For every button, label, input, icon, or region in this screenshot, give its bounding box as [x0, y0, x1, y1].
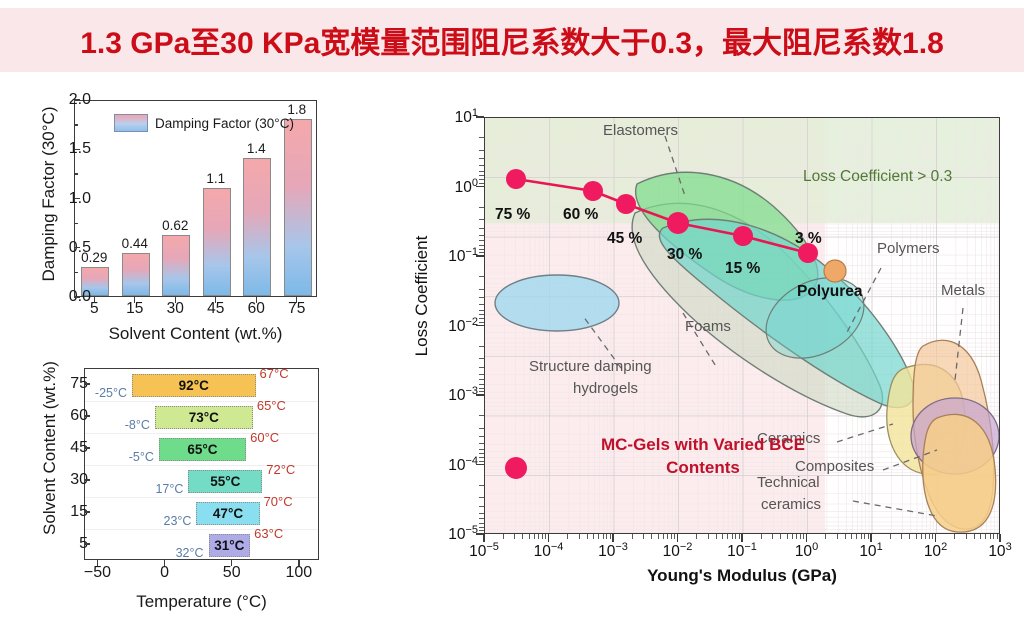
bar-y-tick-minor	[74, 173, 78, 174]
temperature-range-bar-chart: Solvent Content (wt.%) 92°C-25°C67°C73°C…	[12, 360, 342, 622]
bar-y-tick-mark	[74, 296, 80, 297]
ashby-x-tick-minor	[909, 534, 910, 539]
bar-x-tick-mark	[134, 297, 135, 303]
ashby-x-tick-minor	[974, 534, 975, 539]
legend-label: Damping Factor (30°C)	[155, 116, 294, 131]
range-high-label-60: 65°C	[257, 398, 286, 413]
range-bar-75: 92°C	[132, 374, 256, 397]
ashby-x-tick-minor	[800, 534, 801, 539]
range-bar-width-label-45: 65°C	[187, 442, 217, 457]
ashby-x-tick-minor	[780, 534, 781, 539]
ashby-y-tick-minor	[479, 457, 484, 458]
range-low-label-60: -8°C	[125, 418, 150, 432]
polyurea-label: Polyurea	[797, 283, 862, 301]
ashby-x-tick-minor	[534, 534, 535, 539]
ashby-y-tick-minor	[479, 310, 484, 311]
bar-value-label-15: 0.44	[112, 236, 158, 251]
ashby-y-tick-minor	[479, 428, 484, 429]
ashby-loss-coefficient-chart: Loss Coefficient	[380, 86, 1024, 631]
range-y-tick-mark	[84, 383, 90, 384]
ashby-y-tick-minor	[479, 207, 484, 208]
region-structure-damping-hydrogels	[495, 275, 619, 331]
ashby-x-tick-minor	[632, 534, 633, 539]
ashby-y-tick-minor	[479, 513, 484, 514]
ashby-y-tick-minor	[479, 240, 484, 241]
ashby-x-tick-mark	[548, 534, 550, 542]
range-x-tick-mark	[298, 560, 299, 566]
range-bar-30: 55°C	[188, 470, 262, 493]
bar-45	[203, 188, 231, 296]
ashby-y-tick-minor	[479, 367, 484, 368]
ashby-y-tick-minor	[479, 179, 484, 180]
ashby-y-tick-minor	[479, 322, 484, 323]
bar-x-tick-mark	[256, 297, 257, 303]
ashby-x-tick-minor	[966, 534, 967, 539]
ashby-y-tick-minor	[479, 228, 484, 229]
ashby-y-tick-minor	[479, 358, 484, 359]
ashby-x-tick-minor	[529, 534, 530, 539]
ashby-y-tick-minor	[479, 235, 484, 236]
ashby-y-tick-mark	[476, 464, 484, 466]
ashby-x-tick-0: 10−5	[449, 541, 519, 561]
ashby-x-tick-minor	[658, 534, 659, 539]
bar-y-tick-minor	[74, 124, 78, 125]
ashby-x-tick-7: 102	[901, 541, 971, 561]
range-y-tick-60: 60	[38, 407, 88, 425]
ashby-y-tick-4: 10−3	[408, 385, 478, 405]
ashby-y-tick-5: 10−4	[408, 455, 478, 475]
ashby-x-tick-mark	[870, 534, 872, 542]
ashby-x-tick-minor	[671, 534, 672, 539]
ashby-x-tick-minor	[985, 534, 986, 539]
note-metals: Metals	[941, 282, 985, 299]
ashby-x-tick-minor	[674, 534, 675, 539]
ashby-y-tick-minor	[479, 453, 484, 454]
range-high-label-15: 70°C	[264, 494, 293, 509]
ashby-y-tick-minor	[479, 523, 484, 524]
ashby-x-tick-minor	[579, 534, 580, 539]
ashby-x-tick-3: 10−2	[643, 541, 713, 561]
range-low-label-75: -25°C	[95, 386, 127, 400]
ashby-x-tick-minor	[929, 534, 930, 539]
ashby-x-tick-minor	[868, 534, 869, 539]
ashby-x-tick-mark	[806, 534, 808, 542]
title-banner: 1.3 GPa至30 KPa宽模量范围阻尼系数大于0.3，最大阻尼系数1.8	[0, 8, 1024, 72]
ashby-x-tick-minor	[708, 534, 709, 539]
ashby-x-tick-minor	[916, 534, 917, 539]
bar-x-tick-mark	[296, 297, 297, 303]
ashby-x-tick-minor	[845, 534, 846, 539]
ashby-y-tick-minor	[479, 252, 484, 253]
loss-coefficient-band-label: Loss Coefficient > 0.3	[803, 168, 952, 186]
ashby-x-tick-minor	[610, 534, 611, 539]
ashby-y-tick-minor	[479, 158, 484, 159]
range-y-tick-mark	[84, 511, 90, 512]
ashby-x-axis-label: Young's Modulus (GPa)	[484, 566, 1000, 586]
range-x-tick-mark	[231, 560, 232, 566]
ashby-x-tick-6: 101	[836, 541, 906, 561]
page-title: 1.3 GPa至30 KPa宽模量范围阻尼系数大于0.3，最大阻尼系数1.8	[80, 18, 944, 62]
ashby-y-tick-minor	[479, 165, 484, 166]
pct-label-60: 60 %	[563, 206, 598, 224]
bar-chart-x-axis-label: Solvent Content (wt.%)	[74, 324, 317, 344]
range-low-label-15: 23°C	[164, 514, 192, 528]
bar-value-label-45: 1.1	[193, 171, 239, 186]
ashby-y-tick-minor	[479, 314, 484, 315]
ashby-x-tick-minor	[890, 534, 891, 539]
range-x-tick-mark	[97, 560, 98, 566]
ashby-y-tick-minor	[479, 379, 484, 380]
note-polymers: Polymers	[877, 240, 940, 257]
range-bar-15: 47°C	[196, 502, 259, 525]
ashby-y-tick-minor	[479, 506, 484, 507]
range-x-tick--50: −50	[72, 564, 122, 582]
ashby-y-tick-minor	[479, 304, 484, 305]
ashby-x-tick-minor	[667, 534, 668, 539]
ashby-x-tick-minor	[643, 534, 644, 539]
ashby-x-tick-minor	[739, 534, 740, 539]
ashby-y-tick-minor	[479, 171, 484, 172]
range-high-label-5: 63°C	[254, 526, 283, 541]
ashby-y-tick-2: 10−1	[408, 246, 478, 266]
damping-factor-bar-chart: Damping Factor (30°C) 2.01.51.00.50.00.2…	[12, 88, 342, 356]
range-high-label-75: 67°C	[260, 366, 289, 381]
ashby-y-tick-minor	[479, 276, 484, 277]
ashby-x-tick-5: 100	[772, 541, 842, 561]
ashby-x-tick-minor	[932, 534, 933, 539]
ashby-y-tick-minor	[479, 318, 484, 319]
pct-label-3: 3 %	[795, 230, 822, 248]
range-bar-width-label-75: 92°C	[179, 378, 209, 393]
ashby-y-tick-minor	[479, 150, 484, 151]
ashby-y-tick-minor	[479, 530, 484, 531]
range-bar-width-label-60: 73°C	[189, 410, 219, 425]
ashby-y-tick-1: 100	[408, 177, 478, 197]
range-bar-5: 31°C	[209, 534, 251, 557]
ashby-x-tick-minor	[925, 534, 926, 539]
ashby-x-tick-minor	[837, 534, 838, 539]
ashby-x-tick-minor	[732, 534, 733, 539]
pct-label-15: 15 %	[725, 260, 760, 278]
range-y-tick-mark	[84, 447, 90, 448]
ashby-x-tick-1: 10−4	[514, 541, 584, 561]
ashby-y-axis-label: Loss Coefficient	[412, 196, 432, 396]
ashby-x-tick-minor	[696, 534, 697, 539]
ashby-x-tick-minor	[761, 534, 762, 539]
ashby-y-tick-minor	[479, 518, 484, 519]
ashby-x-tick-minor	[514, 534, 515, 539]
ashby-x-tick-minor	[787, 534, 788, 539]
mcgel-lone-point	[505, 457, 527, 479]
mcgel-point-45	[616, 194, 636, 214]
ashby-y-tick-minor	[479, 527, 484, 528]
bar-y-tick-mark	[74, 247, 80, 248]
range-y-tick-45: 45	[38, 439, 88, 457]
ashby-x-tick-8: 103	[965, 541, 1024, 561]
mcgels-series-label: MC-Gels with Varied BCE Contents	[553, 434, 853, 480]
ashby-x-tick-minor	[856, 534, 857, 539]
ashby-y-tick-minor	[479, 436, 484, 437]
mcgel-point-75	[506, 169, 526, 189]
ashby-x-tick-minor	[954, 534, 955, 539]
range-high-label-45: 60°C	[250, 430, 279, 445]
ashby-y-tick-minor	[479, 449, 484, 450]
bar-x-tick-mark	[175, 297, 176, 303]
range-bar-width-label-5: 31°C	[214, 538, 244, 553]
ashby-x-tick-minor	[603, 534, 604, 539]
bar-15	[122, 253, 150, 296]
note-foams: Foams	[685, 318, 731, 335]
ashby-y-tick-minor	[479, 461, 484, 462]
ashby-x-tick-minor	[851, 534, 852, 539]
ashby-x-tick-minor	[997, 534, 998, 539]
note-technical-ceramics-line2: ceramics	[761, 496, 821, 513]
ashby-y-tick-minor	[479, 443, 484, 444]
range-y-tick-mark	[84, 415, 90, 416]
ashby-y-tick-minor	[479, 384, 484, 385]
range-low-label-30: 17°C	[155, 482, 183, 496]
bar-75	[284, 119, 312, 296]
ashby-x-tick-mark	[612, 534, 614, 542]
range-gridline	[85, 433, 318, 434]
bar-chart-legend: Damping Factor (30°C)	[114, 114, 294, 132]
ashby-x-tick-mark	[741, 534, 743, 542]
ashby-y-tick-minor	[479, 485, 484, 486]
range-y-tick-mark	[84, 543, 90, 544]
ashby-x-tick-minor	[993, 534, 994, 539]
pct-label-75: 75 %	[495, 206, 530, 224]
bar-y-tick-minor	[74, 272, 78, 273]
bar-y-tick-label: 1.5	[41, 140, 91, 158]
ashby-y-tick-minor	[479, 391, 484, 392]
note-hydrogels-line1: Structure damping	[529, 358, 652, 375]
legend-swatch-icon	[114, 114, 148, 132]
ashby-x-tick-2: 10−3	[578, 541, 648, 561]
ashby-y-tick-minor	[479, 415, 484, 416]
ashby-y-tick-mark	[476, 186, 484, 188]
ashby-y-tick-3: 10−2	[408, 316, 478, 336]
ashby-y-tick-0: 101	[408, 107, 478, 127]
ashby-y-tick-minor	[479, 175, 484, 176]
range-x-tick-100: 100	[274, 564, 324, 582]
ashby-y-tick-minor	[479, 346, 484, 347]
pct-label-30: 30 %	[667, 246, 702, 264]
bar-x-tick-mark	[215, 297, 216, 303]
note-hydrogels-line2: hydrogels	[573, 380, 638, 397]
ashby-x-tick-minor	[538, 534, 539, 539]
ashby-y-tick-minor	[479, 183, 484, 184]
ashby-x-tick-minor	[792, 534, 793, 539]
range-high-label-30: 72°C	[266, 462, 295, 477]
bar-y-tick-label: 2.0	[41, 91, 91, 109]
mcgel-point-30	[667, 212, 689, 234]
note-elastomers: Elastomers	[603, 122, 678, 139]
ashby-y-tick-minor	[479, 289, 484, 290]
ashby-x-tick-minor	[796, 534, 797, 539]
ashby-x-tick-minor	[542, 534, 543, 539]
bar-60	[243, 158, 271, 296]
ashby-y-tick-minor	[479, 219, 484, 220]
ashby-x-tick-minor	[503, 534, 504, 539]
range-x-tick-0: 0	[140, 564, 190, 582]
ashby-x-tick-minor	[901, 534, 902, 539]
bar-y-tick-mark	[74, 99, 80, 100]
ashby-x-tick-mark	[677, 534, 679, 542]
bar-value-label-60: 1.4	[233, 141, 279, 156]
mcgel-point-60	[583, 181, 603, 201]
ashby-x-tick-mark	[935, 534, 937, 542]
ashby-x-tick-minor	[803, 534, 804, 539]
ashby-x-tick-mark	[999, 534, 1001, 542]
ashby-y-tick-minor	[479, 245, 484, 246]
ashby-x-tick-mark	[483, 534, 485, 542]
ashby-x-tick-minor	[727, 534, 728, 539]
ashby-plot-area: Elastomers Foams Polymers Ceramics Compo…	[484, 117, 1000, 534]
ashby-x-tick-minor	[598, 534, 599, 539]
ashby-x-tick-4: 10−1	[707, 541, 777, 561]
ashby-y-tick-mark	[476, 116, 484, 118]
ashby-y-tick-minor	[479, 249, 484, 250]
region-technical-ceramics	[923, 414, 996, 532]
ashby-x-tick-minor	[864, 534, 865, 539]
ashby-x-tick-minor	[772, 534, 773, 539]
bar-value-label-5: 0.29	[71, 250, 117, 265]
ashby-y-tick-minor	[479, 297, 484, 298]
mcgel-point-15	[733, 226, 753, 246]
ashby-y-tick-mark	[476, 255, 484, 257]
range-low-label-5: 32°C	[176, 546, 204, 560]
ashby-x-tick-minor	[980, 534, 981, 539]
range-x-tick-mark	[164, 560, 165, 566]
ashby-x-tick-minor	[663, 534, 664, 539]
range-bar-width-label-30: 55°C	[210, 474, 240, 489]
bar-value-label-30: 0.62	[152, 218, 198, 233]
ashby-y-tick-minor	[479, 388, 484, 389]
ashby-y-tick-minor	[479, 497, 484, 498]
ashby-x-tick-minor	[587, 534, 588, 539]
ashby-x-tick-minor	[593, 534, 594, 539]
range-y-tick-75: 75	[38, 375, 88, 393]
range-chart-plot-area: 92°C-25°C67°C73°C-8°C65°C65°C-5°C60°C55°…	[84, 368, 319, 560]
range-bar-width-label-15: 47°C	[213, 506, 243, 521]
polyurea-point	[824, 260, 846, 282]
ashby-y-tick-mark	[476, 325, 484, 327]
pct-label-45: 45 %	[607, 230, 642, 248]
ashby-x-tick-minor	[567, 534, 568, 539]
ashby-x-tick-minor	[522, 534, 523, 539]
range-y-tick-5: 5	[38, 535, 88, 553]
ashby-y-tick-minor	[479, 374, 484, 375]
range-y-tick-30: 30	[38, 471, 88, 489]
ashby-y-tick-minor	[479, 137, 484, 138]
range-x-tick-50: 50	[207, 564, 257, 582]
bar-y-tick-label: 1.0	[41, 190, 91, 208]
ashby-x-tick-minor	[735, 534, 736, 539]
range-y-tick-mark	[84, 479, 90, 480]
bar-x-tick-mark	[94, 297, 95, 303]
bar-y-tick-mark	[74, 149, 80, 150]
ashby-x-tick-minor	[545, 534, 546, 539]
ashby-x-tick-minor	[861, 534, 862, 539]
bar-y-tick-mark	[74, 198, 80, 199]
range-low-label-45: -5°C	[129, 450, 154, 464]
ashby-x-tick-minor	[651, 534, 652, 539]
range-y-tick-15: 15	[38, 503, 88, 521]
ashby-x-tick-minor	[722, 534, 723, 539]
range-bar-45: 65°C	[159, 438, 246, 461]
ashby-x-tick-minor	[606, 534, 607, 539]
bar-30	[162, 235, 190, 296]
ashby-x-tick-minor	[716, 534, 717, 539]
ashby-x-tick-minor	[825, 534, 826, 539]
ashby-x-tick-minor	[990, 534, 991, 539]
range-chart-x-axis-label: Temperature (°C)	[84, 592, 319, 612]
bar-y-tick-minor	[74, 223, 78, 224]
range-bar-60: 73°C	[155, 406, 253, 429]
ashby-x-tick-minor	[921, 534, 922, 539]
ashby-y-tick-mark	[476, 394, 484, 396]
